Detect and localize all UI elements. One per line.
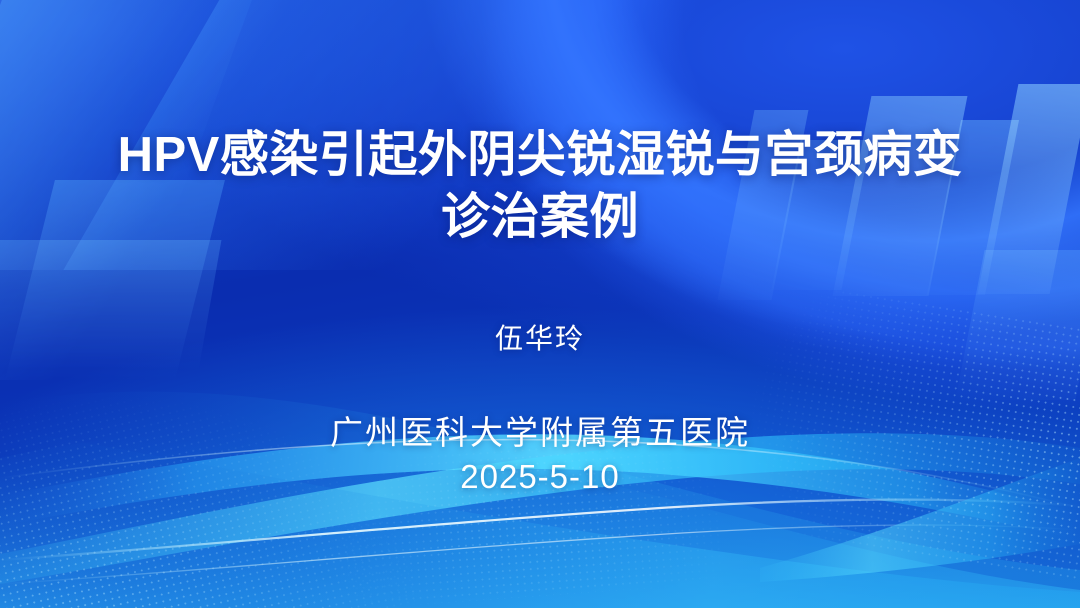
page-title: HPV感染引起外阴尖锐湿锐与宫颈病变 诊治案例 [0, 124, 1080, 248]
title-line-1: HPV感染引起外阴尖锐湿锐与宫颈病变 [40, 124, 1040, 186]
text-layer: HPV感染引起外阴尖锐湿锐与宫颈病变 诊治案例 伍华玲 广州医科大学附属第五医院… [0, 0, 1080, 608]
presentation-date: 2025-5-10 [0, 458, 1080, 496]
title-line-2: 诊治案例 [40, 186, 1040, 248]
presenter-name: 伍华玲 [0, 317, 1080, 357]
affiliation-name: 广州医科大学附属第五医院 [0, 406, 1080, 454]
title-slide: HPV感染引起外阴尖锐湿锐与宫颈病变 诊治案例 伍华玲 广州医科大学附属第五医院… [0, 0, 1080, 608]
